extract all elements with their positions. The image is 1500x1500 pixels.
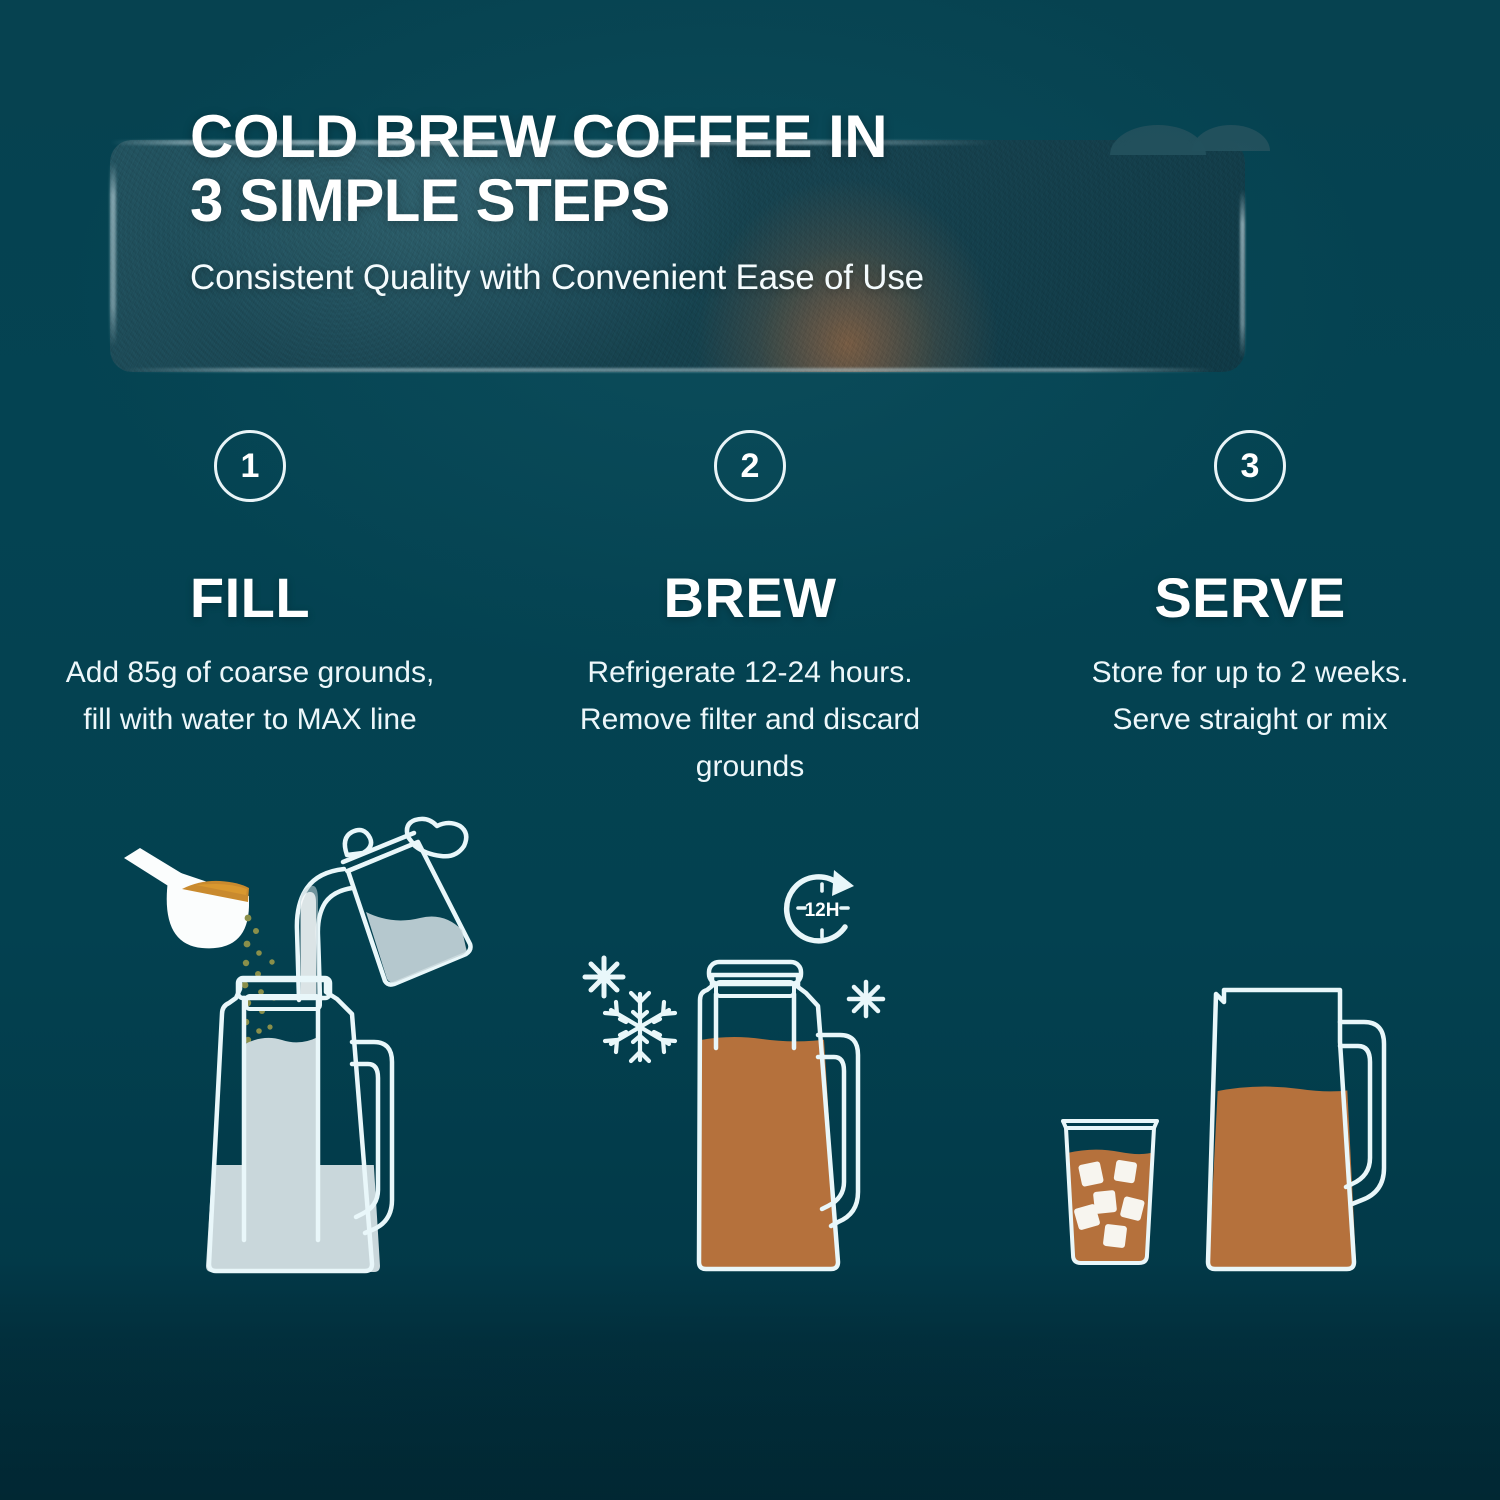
step-number-badge-3: 3: [1214, 430, 1286, 502]
headline-line-2: 3 SIMPLE STEPS: [190, 169, 1210, 233]
step-number-2: 2: [741, 449, 760, 483]
step-number-badge-1: 1: [214, 430, 286, 502]
subheadline: Consistent Quality with Convenient Ease …: [190, 258, 1210, 298]
step-number-3: 3: [1241, 449, 1260, 483]
header-text-block: COLD BREW COFFEE IN 3 SIMPLE STEPS Consi…: [190, 105, 1210, 298]
panel-rim-bottom: [122, 368, 1215, 372]
panel-rim-left: [110, 162, 116, 347]
step-column-3: 3 SERVE Store for up to 2 weeks. Serve s…: [1000, 430, 1500, 790]
panel-rim-right: [1240, 190, 1245, 358]
step-column-2: 2 BREW Refrigerate 12-24 hours. Remove f…: [500, 430, 1000, 790]
steps-row: 1 FILL Add 85g of coarse grounds, fill w…: [0, 430, 1500, 790]
step-column-1: 1 FILL Add 85g of coarse grounds, fill w…: [0, 430, 500, 790]
step-title-serve: SERVE: [1154, 570, 1345, 626]
step-description-fill: Add 85g of coarse grounds, fill with wat…: [60, 650, 440, 744]
step-number-1: 1: [241, 449, 260, 483]
step-description-brew: Refrigerate 12-24 hours. Remove filter a…: [560, 650, 940, 790]
headline-line-1: COLD BREW COFFEE IN: [190, 105, 1210, 169]
step-title-fill: FILL: [190, 570, 310, 626]
step-description-serve: Store for up to 2 weeks. Serve straight …: [1060, 650, 1440, 744]
step-title-brew: BREW: [663, 570, 836, 626]
step-number-badge-2: 2: [714, 430, 786, 502]
background-floor-shadow: [0, 1260, 1500, 1500]
